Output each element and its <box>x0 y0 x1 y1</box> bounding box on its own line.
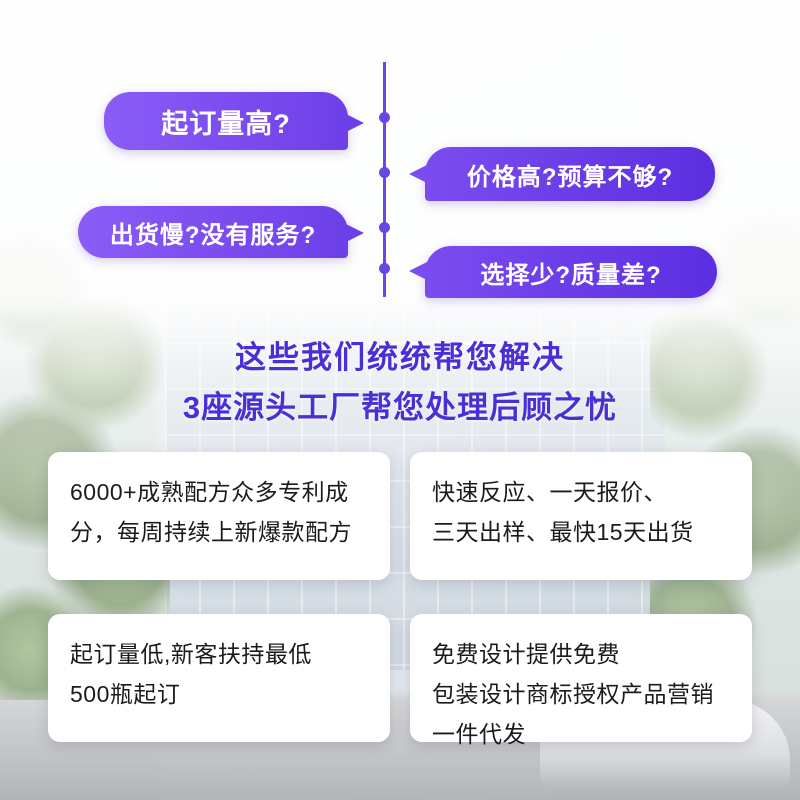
feature-card-formula: 6000+成熟配方众多专利成 分，每周持续上新爆款配方 <box>48 452 390 580</box>
pain-point-bubble-shipping: 出货慢?没有服务? <box>78 206 348 258</box>
pain-point-label-shipping: 出货慢?没有服务? <box>110 215 316 250</box>
headline-line-1: 这些我们统统帮您解决 <box>0 332 800 377</box>
feature-card-line: 分，每周持续上新爆款配方 <box>70 512 368 552</box>
bubble-tail-icon <box>409 165 427 183</box>
feature-card-design: 免费设计提供免费 包装设计商标授权产品营销 一件代发 <box>410 614 752 742</box>
feature-card-line: 免费设计提供免费 <box>432 634 730 674</box>
promo-poster: 起订量高? 价格高?预算不够? 出货慢?没有服务? 选择少?质量差? 这些我们统… <box>0 0 800 800</box>
pain-point-label-moq: 起订量高? <box>161 102 291 141</box>
pain-point-bubble-choice: 选择少?质量差? <box>425 246 717 298</box>
timeline-dot-1 <box>379 112 390 123</box>
feature-card-line: 三天出样、最快15天出货 <box>432 512 730 552</box>
feature-card-line: 500瓶起订 <box>70 674 368 714</box>
pain-point-bubble-price: 价格高?预算不够? <box>425 147 715 201</box>
bubble-tail-icon <box>409 262 427 280</box>
pain-point-label-choice: 选择少?质量差? <box>480 255 661 290</box>
bubble-tail-icon <box>346 114 364 132</box>
feature-card-speed: 快速反应、一天报价、 三天出样、最快15天出货 <box>410 452 752 580</box>
timeline-dot-2 <box>379 167 390 178</box>
pain-point-label-price: 价格高?预算不够? <box>467 157 673 192</box>
timeline-line <box>383 62 386 297</box>
feature-card-line: 6000+成熟配方众多专利成 <box>70 472 368 512</box>
feature-card-line: 一件代发 <box>432 714 730 754</box>
headline-line-2: 3座源头工厂帮您处理后顾之忧 <box>0 382 800 427</box>
timeline-dot-3 <box>379 222 390 233</box>
pain-point-bubble-moq: 起订量高? <box>104 92 348 150</box>
timeline-dot-4 <box>379 263 390 274</box>
feature-card-low-moq: 起订量低,新客扶持最低 500瓶起订 <box>48 614 390 742</box>
feature-card-line: 起订量低,新客扶持最低 <box>70 634 368 674</box>
feature-card-line: 快速反应、一天报价、 <box>432 472 730 512</box>
feature-card-line: 包装设计商标授权产品营销 <box>432 674 730 714</box>
bubble-tail-icon <box>346 224 364 242</box>
